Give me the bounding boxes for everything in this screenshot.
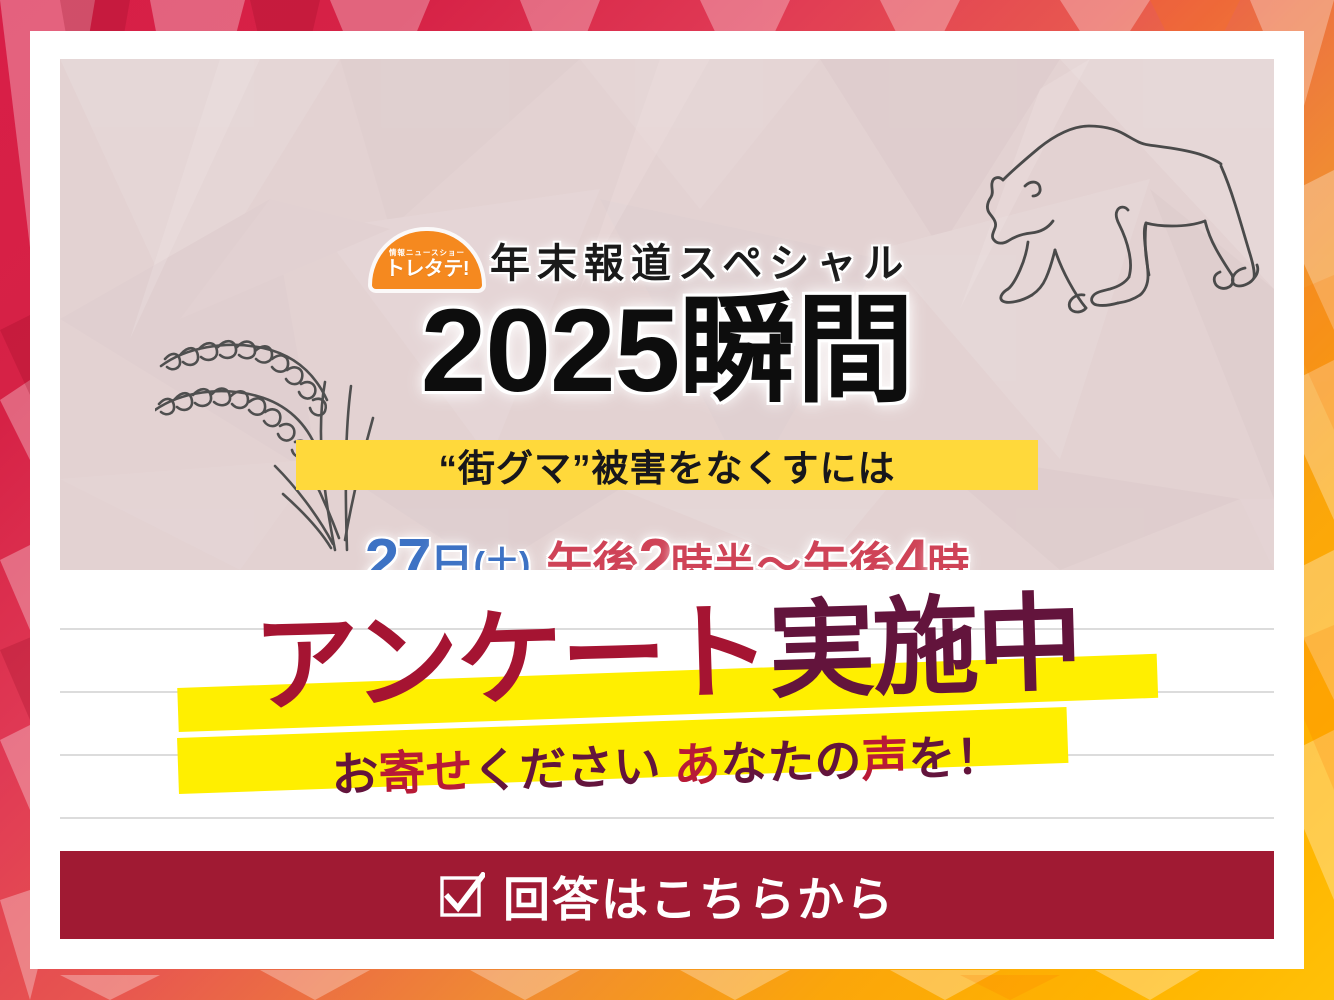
subline-seg-5: なたの xyxy=(720,734,862,791)
date-number: 27 xyxy=(365,526,430,571)
time-start-word: 午後 xyxy=(546,528,638,570)
date-day-of-week: (土) xyxy=(474,537,531,571)
time-range-tilde: 〜 xyxy=(757,529,801,570)
time-end-unit: 時 xyxy=(927,531,969,571)
survey-headline: アンケート実施中 xyxy=(60,585,1274,725)
time-end-number: 4 xyxy=(895,526,927,571)
time-start-number: 2 xyxy=(638,526,670,571)
survey-headline-part-a: アンケート xyxy=(252,593,771,725)
hero-datetime: 27 日 (土) 午後 2 時半 〜 午後 4 時 xyxy=(60,525,1274,570)
time-end-word: 午後 xyxy=(803,528,895,570)
survey-headline-part-b: 実施中 xyxy=(767,584,1082,711)
answer-survey-button[interactable]: 回答はこちらから xyxy=(60,851,1274,939)
hero-subtitle-text: “街グマ”被害をなくすには xyxy=(439,438,896,492)
checkbox-checked-icon xyxy=(439,872,485,918)
subline-seg-3: ください xyxy=(472,739,674,798)
subline-seg-6: 声 xyxy=(861,732,909,786)
ruled-line xyxy=(60,817,1274,819)
subline-seg-4: あ xyxy=(673,738,721,792)
hero-panel: 情報ニュースショー トレタテ! 年末報道スペシャル 2025瞬間 “街グマ”被害… xyxy=(60,59,1274,570)
survey-section: アンケート実施中 お寄せください あなたの声を！ xyxy=(60,570,1274,851)
hero-subtitle-band: “街グマ”被害をなくすには xyxy=(296,440,1038,490)
hero-title: 2025瞬間 xyxy=(60,291,1274,411)
subline-seg-7: を！ xyxy=(908,730,1003,786)
logo-main-text: トレタテ! xyxy=(385,259,469,279)
hero-kicker-text: 年末報道スペシャル xyxy=(490,231,1010,289)
logo-sub-text: 情報ニュースショー xyxy=(389,247,465,258)
cta-button-label: 回答はこちらから xyxy=(503,861,895,930)
time-start-unit: 時半 xyxy=(671,531,755,571)
date-unit: 日 xyxy=(430,529,474,570)
subline-seg-2: 寄せ xyxy=(378,744,473,800)
subline-seg-1: お xyxy=(331,747,379,801)
